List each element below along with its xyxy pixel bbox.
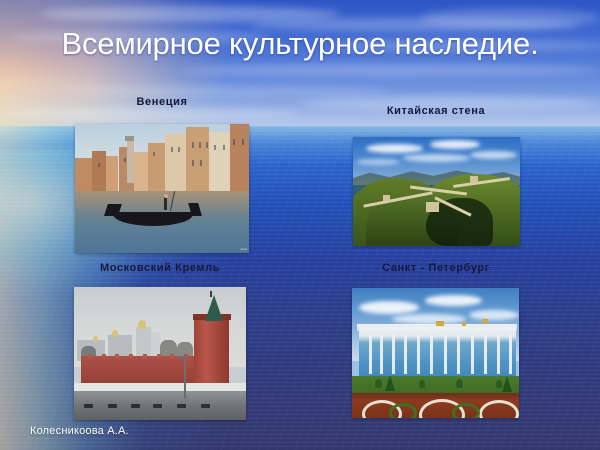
kremlin-merlon [170,354,174,359]
venice-window [192,142,194,148]
kremlin-golden-dome [93,336,98,342]
great-wall-watchtower [383,195,390,201]
venice-window [223,145,225,150]
cloud [430,140,480,149]
cloud-wisp [420,8,600,28]
venice-building [148,143,165,191]
venice-building [75,158,92,192]
spb-palace-column [484,335,487,374]
kremlin-merlon [102,354,106,359]
slide-title: Всемирное культурное наследие. [0,26,600,62]
kremlin-merlon [129,354,133,359]
spb-shrub [419,380,425,388]
spb-conifer [385,375,395,391]
kremlin-car [108,404,117,408]
great-wall-watchtower [470,176,478,183]
cloud [470,151,517,159]
venice-building [230,124,249,191]
spb-palace-column [404,335,407,374]
spb-palace-column [509,335,512,374]
kremlin-golden-dome [138,320,146,329]
spb-gilded-ornament [482,319,488,323]
venice-window [124,158,126,162]
kremlin-street-lamp-post [184,356,186,399]
kremlin-spire-finial [210,291,212,297]
cloud-wisp [0,108,300,120]
venice-gondolier-head [164,194,168,198]
cloud [425,295,482,307]
venice-window [200,160,202,166]
venice-campanile-roof [125,136,134,141]
spb-garden-swirl-path [479,400,519,418]
venice-window [153,152,155,156]
spb-palace-column [471,335,474,374]
venice-window [171,147,173,152]
great-wall-watchtower [426,202,439,212]
spb-shrub [375,379,382,388]
kremlin-merlon [157,354,161,359]
kremlin-car [153,404,162,408]
spb-garden-hedge-swirl [452,403,480,418]
photo-great-wall [353,137,520,246]
spb-garden-hedge-swirl [389,403,417,418]
cloud [359,301,419,314]
kremlin-merlon [88,354,92,359]
spb-palace-column [392,335,395,374]
spb-gilded-ornament [462,322,466,326]
spb-palace-column [380,335,383,374]
venice-window [178,147,180,152]
cloud-wisp [180,64,600,76]
venice-window [242,139,244,145]
venice-building [134,152,148,191]
venice-window [206,142,208,148]
photo-venice: www [75,124,249,253]
kremlin-car [84,404,93,408]
spb-conifer [502,376,512,392]
venice-building [165,134,186,191]
kremlin-merlon [143,354,147,359]
venice-window [214,145,216,150]
venice-building [186,127,209,192]
spb-palace-column [430,335,433,374]
kremlin-car [201,404,210,408]
venice-window [233,139,235,145]
spb-palace-column [369,335,372,374]
spb-palace-column [417,335,420,374]
kremlin-car [177,404,186,408]
kremlin-car [131,404,140,408]
author-credit: Колесникоова А.А. [30,425,129,437]
kremlin-golden-dome [112,330,118,337]
venice-photo-credit: www [241,247,248,251]
kremlin-snow-bank [74,383,246,391]
spb-shrub [456,379,463,388]
caption-venice: Венеция [74,96,250,108]
venice-campanile [127,139,134,183]
photo-moscow-kremlin [74,287,246,420]
spb-gilded-ornament [436,321,444,326]
venice-window [192,160,194,166]
caption-great-wall: Китайская стена [352,105,520,117]
caption-moscow-kremlin: Московский Кремль [74,262,246,274]
kremlin-street-lamp-arm [177,356,187,358]
cloud-wisp [60,86,390,96]
cloud [403,154,470,162]
spb-shrub [496,380,502,388]
venice-gondolier [164,196,167,210]
spb-palace-column [497,335,500,374]
venice-building [209,132,230,191]
presentation-slide: Всемирное культурное наследие. Венеция К… [0,0,600,450]
kremlin-tower-green-spire [205,295,223,321]
caption-saint-petersburg: Санкт - Петербург [352,262,520,274]
venice-window [98,163,100,167]
spb-palace-column [457,335,460,374]
photo-saint-petersburg [352,288,519,418]
spb-palace-column [444,335,447,374]
kremlin-merlon [115,354,119,359]
venice-building [106,156,118,191]
venice-building [92,151,106,191]
venice-window [199,142,201,148]
